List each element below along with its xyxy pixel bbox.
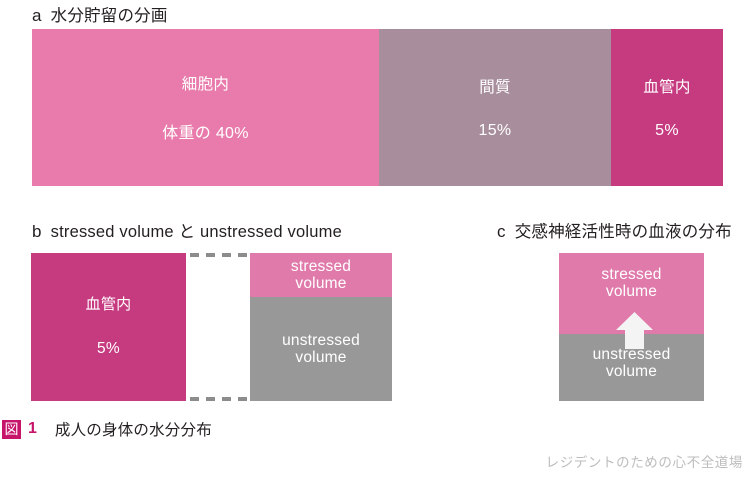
panel-b-intravascular-value: 5% [97,340,120,357]
figure-root: a 水分貯留の分画 細胞内 体重の 40% 間質 15% 血管内 5% b st… [0,0,755,481]
panel-b-stressed-line1: stressed [291,258,351,275]
figure-caption-text: 成人の身体の水分分布 [55,418,212,440]
panel-b-volume-box: stressed volume unstressed volume [250,253,392,401]
panel-b-stressed-line2: volume [295,275,346,292]
panel-b-unstressed-volume: unstressed volume [250,297,392,401]
panel-c-heading: c 交感神経活性時の血液の分布 [497,218,732,242]
bar-segment-intracellular: 細胞内 体重の 40% [32,29,379,186]
bar-segment-intravascular: 血管内 5% [611,29,723,186]
panel-a-heading: a 水分貯留の分画 [32,2,168,26]
up-arrow-icon [616,312,653,349]
panel-b-intravascular-box: 血管内 5% [31,253,186,401]
bar-segment-intravascular-value: 5% [655,122,679,140]
panel-b-letter: b [32,222,42,242]
panel-c-letter: c [497,222,506,242]
bar-segment-intravascular-label: 血管内 [643,75,690,97]
panel-b-heading: b stressed volume と unstressed volume [32,218,342,242]
water-compartment-bar: 細胞内 体重の 40% 間質 15% 血管内 5% [32,29,723,186]
panel-c-unstressed-line2: volume [606,363,657,380]
figure-badge: 図 [2,420,21,439]
bar-segment-interstitial: 間質 15% [379,29,611,186]
panel-b-unstressed-line2: volume [295,349,346,366]
panel-a-letter: a [32,6,42,26]
panel-b-title: stressed volume と unstressed volume [51,218,342,242]
panel-a-title: 水分貯留の分画 [51,2,168,26]
dashed-connector-top [190,253,250,257]
panel-c-title: 交感神経活性時の血液の分布 [515,218,732,242]
panel-b-intravascular-label: 血管内 [86,297,132,314]
figure-number: 1 [28,420,37,438]
panel-c-stressed-line2: volume [606,283,657,300]
dashed-connector-bottom [190,397,250,401]
panel-c-stressed-line1: stressed [601,266,661,283]
panel-b-unstressed-line1: unstressed [282,332,360,349]
bar-segment-interstitial-label: 間質 [479,75,511,97]
bar-segment-intracellular-value: 体重の 40% [162,119,249,143]
bar-segment-interstitial-value: 15% [479,122,512,140]
figure-caption: 図 1 成人の身体の水分分布 [2,418,212,440]
panel-b-stressed-volume: stressed volume [250,253,392,297]
bar-segment-intracellular-label: 細胞内 [182,72,229,94]
source-footer: レジデントのための心不全道場 [546,451,743,471]
